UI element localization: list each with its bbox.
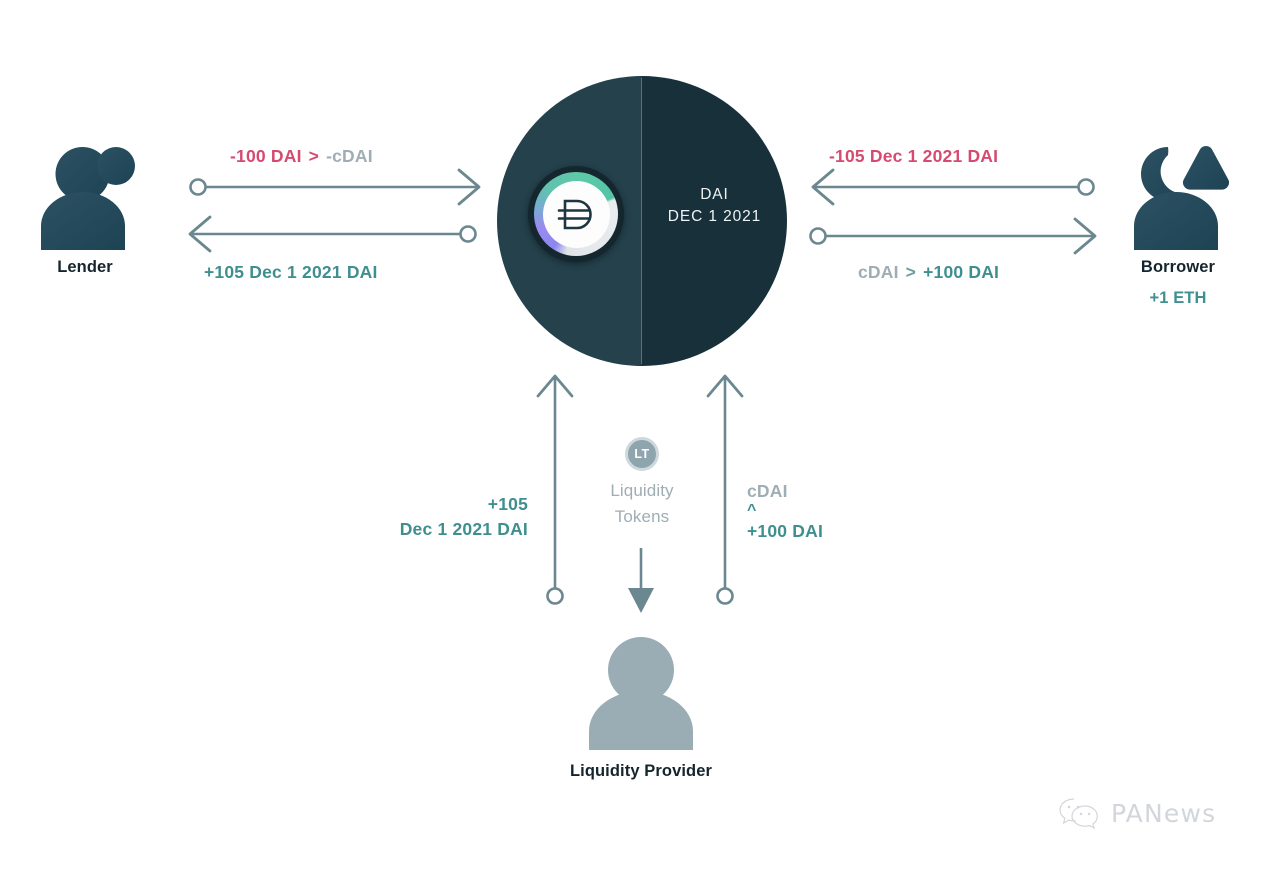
- liquidity-token-label: Liquidity Tokens: [562, 478, 722, 531]
- lender-avatar-icon: [20, 140, 150, 250]
- edge-borrower-token: cDAI: [858, 262, 899, 282]
- edge-provider-right-amount: +100 DAI: [747, 520, 823, 542]
- edge-label-provider-right: cDAI ^ +100 DAI: [747, 480, 823, 542]
- edge-provider-right-chevron-icon: ^: [747, 502, 823, 520]
- edge-borrower-chevron-icon: >: [899, 262, 923, 282]
- pool-label-line2: DEC 1 2021: [642, 206, 787, 228]
- pool-label: DAI DEC 1 2021: [642, 184, 787, 229]
- arrow-pool-to-borrower: [813, 170, 1094, 204]
- edge-lender-token: -cDAI: [326, 146, 373, 166]
- dai-coin-icon: [528, 166, 624, 262]
- edge-label-pool-to-lender: +105 Dec 1 2021 DAI: [204, 261, 378, 284]
- edge-provider-right-token: cDAI: [747, 480, 823, 502]
- panews-watermark: PANews: [1058, 796, 1216, 830]
- arrow-pool-to-lender: [190, 217, 476, 251]
- edge-provider-left-line1: +105: [283, 492, 528, 517]
- panews-text: PANews: [1111, 799, 1216, 828]
- provider-avatar-icon: [541, 630, 741, 750]
- lender-label: Lender: [20, 258, 150, 277]
- edge-lender-chevron-icon: >: [302, 146, 326, 166]
- arrow-tokens-to-provider: [628, 548, 654, 613]
- borrower-collateral: +1 ETH: [1110, 289, 1246, 308]
- edge-label-borrower-to-pool: cDAI>+100 DAI: [858, 261, 999, 284]
- liquidity-provider-group[interactable]: Liquidity Provider: [541, 630, 741, 781]
- liquidity-token-line2: Tokens: [562, 504, 722, 530]
- pool-label-line1: DAI: [642, 184, 787, 206]
- wechat-icon: [1058, 796, 1102, 830]
- edge-provider-left-line2: Dec 1 2021 DAI: [283, 517, 528, 542]
- edge-borrower-amount: +100 DAI: [923, 262, 999, 282]
- edge-label-pool-to-borrower: -105 Dec 1 2021 DAI: [829, 145, 998, 168]
- edge-lender-amount: -100 DAI: [230, 146, 302, 166]
- arrow-lender-to-pool: [191, 170, 480, 204]
- borrower-avatar-icon: [1110, 140, 1246, 250]
- borrower-group[interactable]: Borrower +1 ETH: [1110, 140, 1246, 308]
- diagram-canvas: .ln { stroke:#6b878f; stroke-width:2.6; …: [0, 0, 1280, 870]
- borrower-label: Borrower: [1110, 258, 1246, 277]
- dai-coin-face: [543, 181, 610, 248]
- dai-symbol-icon: [543, 181, 610, 248]
- dai-coin-ring: [534, 172, 618, 256]
- liquidity-provider-label: Liquidity Provider: [541, 762, 741, 781]
- edge-label-lender-to-pool: -100 DAI>-cDAI: [230, 145, 373, 168]
- liquidity-token-line1: Liquidity: [562, 478, 722, 504]
- dai-pool-circle: DAI DEC 1 2021: [497, 76, 787, 366]
- lender-group[interactable]: Lender: [20, 140, 150, 277]
- arrow-borrower-to-pool: [811, 219, 1096, 253]
- edge-label-provider-left: +105 Dec 1 2021 DAI: [283, 492, 528, 543]
- liquidity-token-badge: LT: [625, 437, 659, 471]
